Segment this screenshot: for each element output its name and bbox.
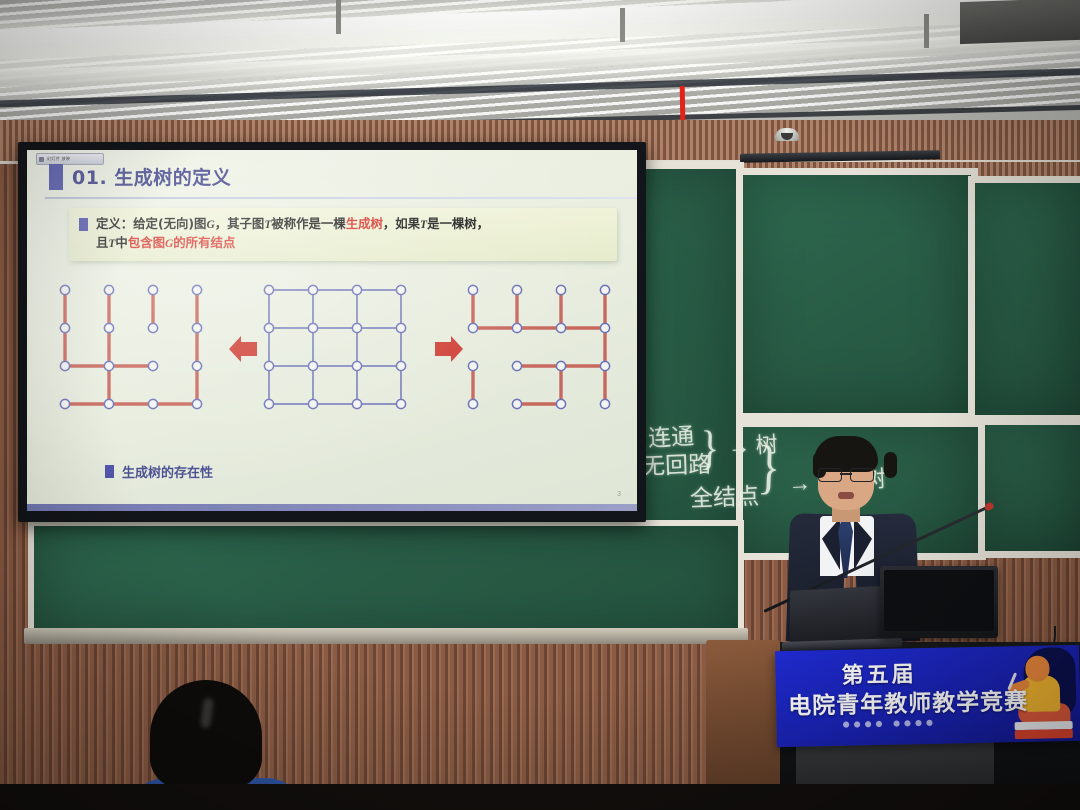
red-marker-strip xyxy=(680,86,686,121)
chalkboard-right-upper xyxy=(736,168,978,420)
right-arrow-icon xyxy=(433,336,463,364)
definition-bullet-square xyxy=(79,218,88,231)
title-accent-square xyxy=(49,164,63,190)
toolbar-label: 幻灯片 放映 xyxy=(47,156,70,162)
glasses-bridge xyxy=(840,473,852,475)
definition-mid-2: 被称作是一棵 xyxy=(271,216,345,231)
slide-page-number: 3 xyxy=(617,491,621,498)
definition-highlight-2a: 包含图 xyxy=(128,235,165,250)
ceiling-equipment-box xyxy=(960,0,1080,44)
definition-mid-1: ，其子图 xyxy=(215,216,265,231)
right-spanning-tree-diagram xyxy=(459,278,635,424)
bullet-existence-label: 生成树的存在性 xyxy=(122,462,213,481)
definition-lead: 定义：给定(无向)图 xyxy=(96,216,206,231)
handwriting-line-3: 全结点 xyxy=(689,477,759,513)
slide-footer-bar xyxy=(27,504,637,511)
bullet-accent-square xyxy=(105,465,114,478)
presenter-glasses xyxy=(818,468,874,480)
lecture-hall-photo: 连通 无回路 全结点 } → 树 } → 生成树 幻灯片 放映 01. 生成树的… xyxy=(0,0,1080,810)
ceiling xyxy=(0,0,1080,132)
slide-title: 01. 生成树的定义 xyxy=(72,163,231,190)
toolbar-pointer-icon[interactable] xyxy=(39,157,44,162)
definition-box: 定义：给定(无向)图G，其子图T被称作是一棵生成树，如果T是一棵树， 且T中包含… xyxy=(69,208,617,261)
monitor-screen[interactable] xyxy=(884,570,994,631)
banner-line-3: ●●●● ●●●● xyxy=(842,718,937,729)
banner-figure-book-red xyxy=(1015,729,1073,739)
definition-highlight-1: 生成树 xyxy=(346,216,383,231)
symbol-G-1: G xyxy=(206,219,214,231)
middle-grid-graph-diagram xyxy=(255,278,431,424)
presenter-mouth xyxy=(838,492,854,499)
definition-line2-lead: 且 xyxy=(96,235,108,250)
definition-mid-4: 是一棵树， xyxy=(427,216,489,231)
definition-mid-3: ，如果 xyxy=(383,216,420,231)
chalkboard-far-right-lower xyxy=(978,418,1080,558)
dome-camera-icon xyxy=(775,128,799,141)
event-banner: 第五届 电院青年教师教学竞赛 ●●●● ●●●● xyxy=(775,645,1080,747)
handwriting-brace-1: } xyxy=(699,419,720,476)
projection-screen-frame: 幻灯片 放映 01. 生成树的定义 定义：给定(无向)图G，其子图T被称作是一棵… xyxy=(18,142,646,522)
chalkboard-far-right-upper xyxy=(968,176,1080,422)
left-arrow-icon xyxy=(229,336,259,364)
definition-text: 定义：给定(无向)图G，其子图T被称作是一棵生成树，如果T是一棵树， 且T中包含… xyxy=(96,215,489,252)
student-head xyxy=(150,680,262,788)
ceiling-hanger-2 xyxy=(620,8,625,42)
chalk-tray xyxy=(24,628,748,644)
spanning-tree-diagrams xyxy=(51,278,635,428)
left-spanning-tree-diagram xyxy=(51,278,227,424)
banner-figure-head xyxy=(1025,655,1050,681)
slide-title-row: 01. 生成树的定义 xyxy=(49,163,231,190)
definition-highlight-2b: 的所有结点 xyxy=(173,235,235,250)
ceiling-hanger-1 xyxy=(336,0,341,34)
bullet-existence: 生成树的存在性 xyxy=(105,462,213,481)
presenter-hair-side-right xyxy=(884,452,897,478)
definition-line2-mid: 中 xyxy=(115,235,127,250)
banner-line-2: 电院青年教师教学竞赛 xyxy=(788,682,1029,721)
student-hair-highlight xyxy=(200,697,214,728)
monitor[interactable] xyxy=(880,566,998,638)
chalkboard-lower xyxy=(28,520,744,640)
foreground-desk-row xyxy=(0,784,1080,810)
presentation-slide[interactable]: 幻灯片 放映 01. 生成树的定义 定义：给定(无向)图G，其子图T被称作是一棵… xyxy=(27,150,637,511)
ceiling-hanger-3 xyxy=(924,14,929,48)
title-divider xyxy=(45,197,637,199)
